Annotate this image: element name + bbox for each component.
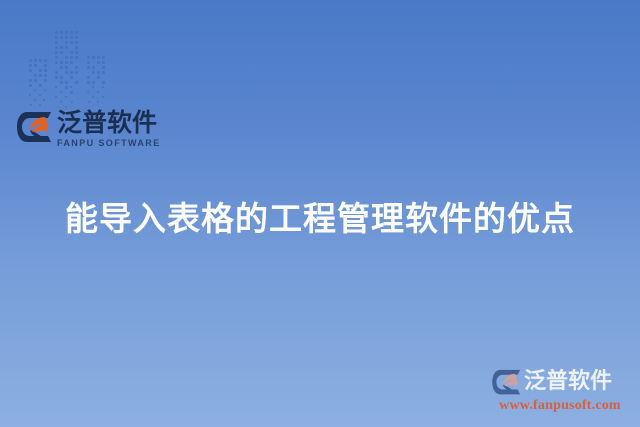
watermark-logo-row: 泛普软件: [492, 367, 628, 397]
fanpu-logo-mark-icon: [17, 111, 53, 144]
pixel-skyline-icon: [27, 29, 113, 111]
brand-name-en: FANPU SOFTWARE: [57, 137, 161, 149]
watermark: 泛普软件 www.fanpusoft.com: [492, 367, 628, 415]
brand-logo: 泛普软件 FANPU SOFTWARE: [17, 110, 161, 156]
banner-headline: 能导入表格的工程管理软件的优点: [0, 198, 640, 240]
brand-logo-text: 泛普软件 FANPU SOFTWARE: [57, 110, 161, 149]
fanpu-logo-mark-icon: [492, 369, 522, 396]
promo-banner: 泛普软件 FANPU SOFTWARE 能导入表格的工程管理软件的优点 泛普软件…: [0, 0, 640, 427]
watermark-url: www.fanpusoft.com: [492, 398, 628, 414]
watermark-brand-name: 泛普软件: [524, 370, 612, 394]
brand-name-cn: 泛普软件: [57, 110, 161, 136]
